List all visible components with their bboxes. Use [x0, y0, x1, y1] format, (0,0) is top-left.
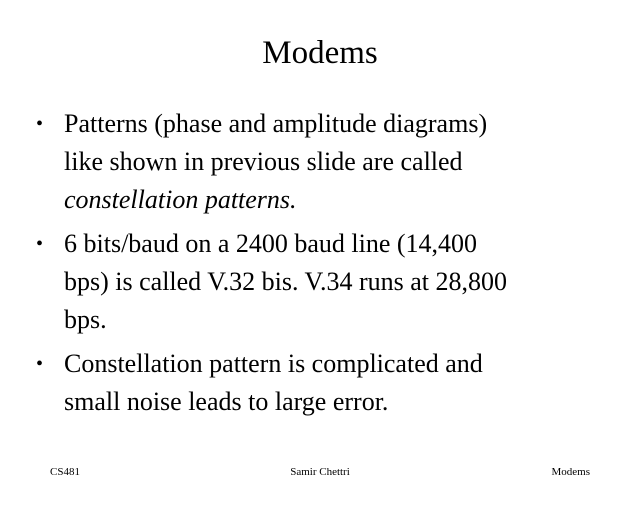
bullet-text: 6 bits/baud on a 2400 baud line (14,400 … [64, 225, 611, 339]
slide-footer: CS481 Samir Chettri Modems [0, 466, 640, 482]
bullet-line: Patterns (phase and amplitude diagrams) [64, 109, 487, 138]
bullet-line: Constellation pattern is complicated and [64, 349, 483, 378]
bullet-line: bps. [64, 305, 107, 334]
slide: Modems • Patterns (phase and amplitude d… [0, 0, 640, 512]
bullet-line: bps) is called V.32 bis. V.34 runs at 28… [64, 267, 507, 296]
bullet-line-italic: constellation patterns. [64, 185, 297, 214]
list-item: • 6 bits/baud on a 2400 baud line (14,40… [36, 225, 611, 339]
list-item: • Patterns (phase and amplitude diagrams… [36, 105, 611, 219]
bullet-marker: • [36, 105, 64, 143]
bullet-line: 6 bits/baud on a 2400 baud line (14,400 [64, 229, 477, 258]
page-title: Modems [0, 33, 640, 73]
bullet-line: small noise leads to large error. [64, 387, 388, 416]
footer-topic: Modems [552, 466, 591, 478]
bullet-text: Patterns (phase and amplitude diagrams) … [64, 105, 611, 219]
footer-author: Samir Chettri [0, 466, 640, 478]
bullet-marker: • [36, 345, 64, 383]
bullet-marker: • [36, 225, 64, 263]
list-item: • Constellation pattern is complicated a… [36, 345, 611, 421]
slide-body: • Patterns (phase and amplitude diagrams… [36, 105, 611, 423]
bullet-text: Constellation pattern is complicated and… [64, 345, 611, 421]
bullet-line: like shown in previous slide are called [64, 147, 463, 176]
